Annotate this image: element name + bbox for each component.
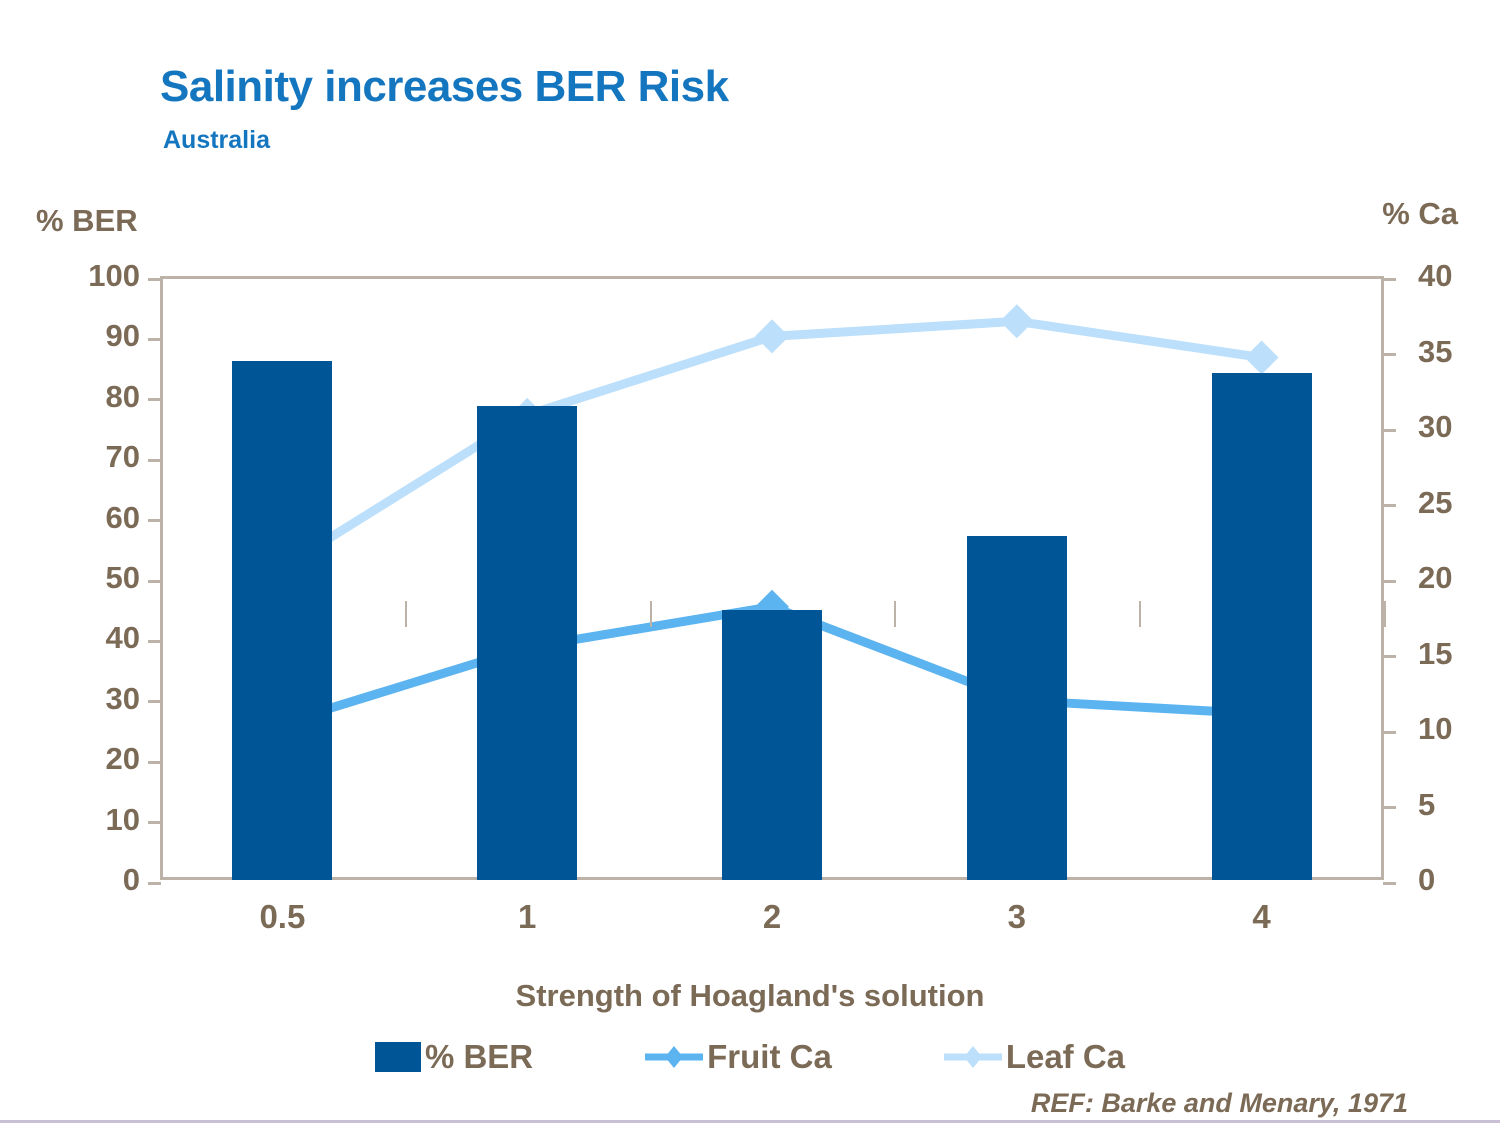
y-axis-tick-label: 30	[0, 683, 140, 714]
y2-axis-tick	[1383, 655, 1396, 658]
y-axis-tick-label: 70	[0, 441, 140, 472]
y-axis-tick-label: 100	[0, 260, 140, 291]
y2-axis-tick-label: 0	[1418, 864, 1435, 895]
y2-axis-tick-label: 35	[1418, 336, 1452, 367]
x-axis-tick	[650, 601, 652, 627]
y-axis-tick	[148, 459, 161, 462]
bar-swatch-icon	[375, 1042, 421, 1072]
legend-item-fruit-ca[interactable]: Fruit Ca	[645, 1038, 832, 1076]
x-axis-category-label: 1	[518, 898, 536, 936]
y2-axis-tick-label: 20	[1418, 562, 1452, 593]
y2-axis-tick	[1383, 429, 1396, 432]
legend-item-ber[interactable]: % BER	[375, 1038, 533, 1076]
y2-axis-tick	[1383, 278, 1396, 281]
y2-axis-tick-label: 25	[1418, 487, 1452, 518]
legend-label-fruit-ca: Fruit Ca	[707, 1038, 832, 1076]
page-title: Salinity increases BER Risk	[160, 62, 729, 112]
y-axis-tick	[148, 580, 161, 583]
x-axis-tick	[894, 601, 896, 627]
y-axis-tick	[148, 398, 161, 401]
left-axis-title: % BER	[36, 203, 138, 239]
bottom-divider	[0, 1120, 1500, 1123]
x-axis-tick	[1384, 601, 1386, 627]
x-axis-tick	[1139, 601, 1141, 627]
bar-ber-1[interactable]	[477, 406, 577, 880]
leaf-ca-line-marker-icon	[944, 1042, 1002, 1072]
y-axis-tick	[148, 882, 161, 885]
y2-axis-tick	[1383, 882, 1396, 885]
chart-legend: % BER Fruit Ca Leaf Ca	[0, 1038, 1500, 1076]
y-axis-tick	[148, 519, 161, 522]
y2-axis-tick-label: 5	[1418, 789, 1435, 820]
y2-axis-tick-label: 40	[1418, 260, 1452, 291]
y-axis-tick-label: 10	[0, 804, 140, 835]
page-subtitle: Australia	[163, 126, 270, 155]
y-axis-tick	[148, 700, 161, 703]
y2-axis-tick	[1383, 731, 1396, 734]
y-axis-tick-label: 40	[0, 622, 140, 653]
bar-ber-0.5[interactable]	[232, 361, 332, 880]
legend-label-leaf-ca: Leaf Ca	[1006, 1038, 1125, 1076]
legend-label-ber: % BER	[425, 1038, 533, 1076]
x-axis-category-label: 4	[1252, 898, 1270, 936]
bar-ber-4[interactable]	[1212, 373, 1312, 880]
reference-note: REF: Barke and Menary, 1971	[1031, 1088, 1408, 1119]
y-axis-tick	[148, 338, 161, 341]
y-axis-tick	[148, 278, 161, 281]
y2-axis-tick-label: 30	[1418, 411, 1452, 442]
bar-ber-3[interactable]	[967, 536, 1067, 880]
y-axis-tick	[148, 821, 161, 824]
y-axis-tick-label: 20	[0, 743, 140, 774]
x-axis-tick	[160, 601, 162, 627]
x-axis-tick	[405, 601, 407, 627]
y-axis-tick-label: 50	[0, 562, 140, 593]
y-axis-tick	[148, 640, 161, 643]
y2-axis-tick-label: 15	[1418, 638, 1452, 669]
y2-axis-tick	[1383, 504, 1396, 507]
fruit-ca-line-marker-icon	[645, 1042, 703, 1072]
y-axis-tick-label: 90	[0, 320, 140, 351]
x-axis-category-label: 0.5	[259, 898, 305, 936]
legend-item-leaf-ca[interactable]: Leaf Ca	[944, 1038, 1125, 1076]
y-axis-tick-label: 0	[0, 864, 140, 895]
x-axis-title: Strength of Hoagland's solution	[0, 978, 1500, 1014]
y2-axis-tick	[1383, 806, 1396, 809]
y2-axis-tick	[1383, 353, 1396, 356]
y-axis-tick-label: 60	[0, 502, 140, 533]
right-axis-title: % Ca	[1382, 196, 1458, 232]
y-axis-tick	[148, 761, 161, 764]
x-axis-category-label: 2	[763, 898, 781, 936]
x-axis-category-label: 3	[1008, 898, 1026, 936]
bar-ber-2[interactable]	[722, 610, 822, 880]
y2-axis-tick-label: 10	[1418, 713, 1452, 744]
y2-axis-tick	[1383, 580, 1396, 583]
y-axis-tick-label: 80	[0, 381, 140, 412]
